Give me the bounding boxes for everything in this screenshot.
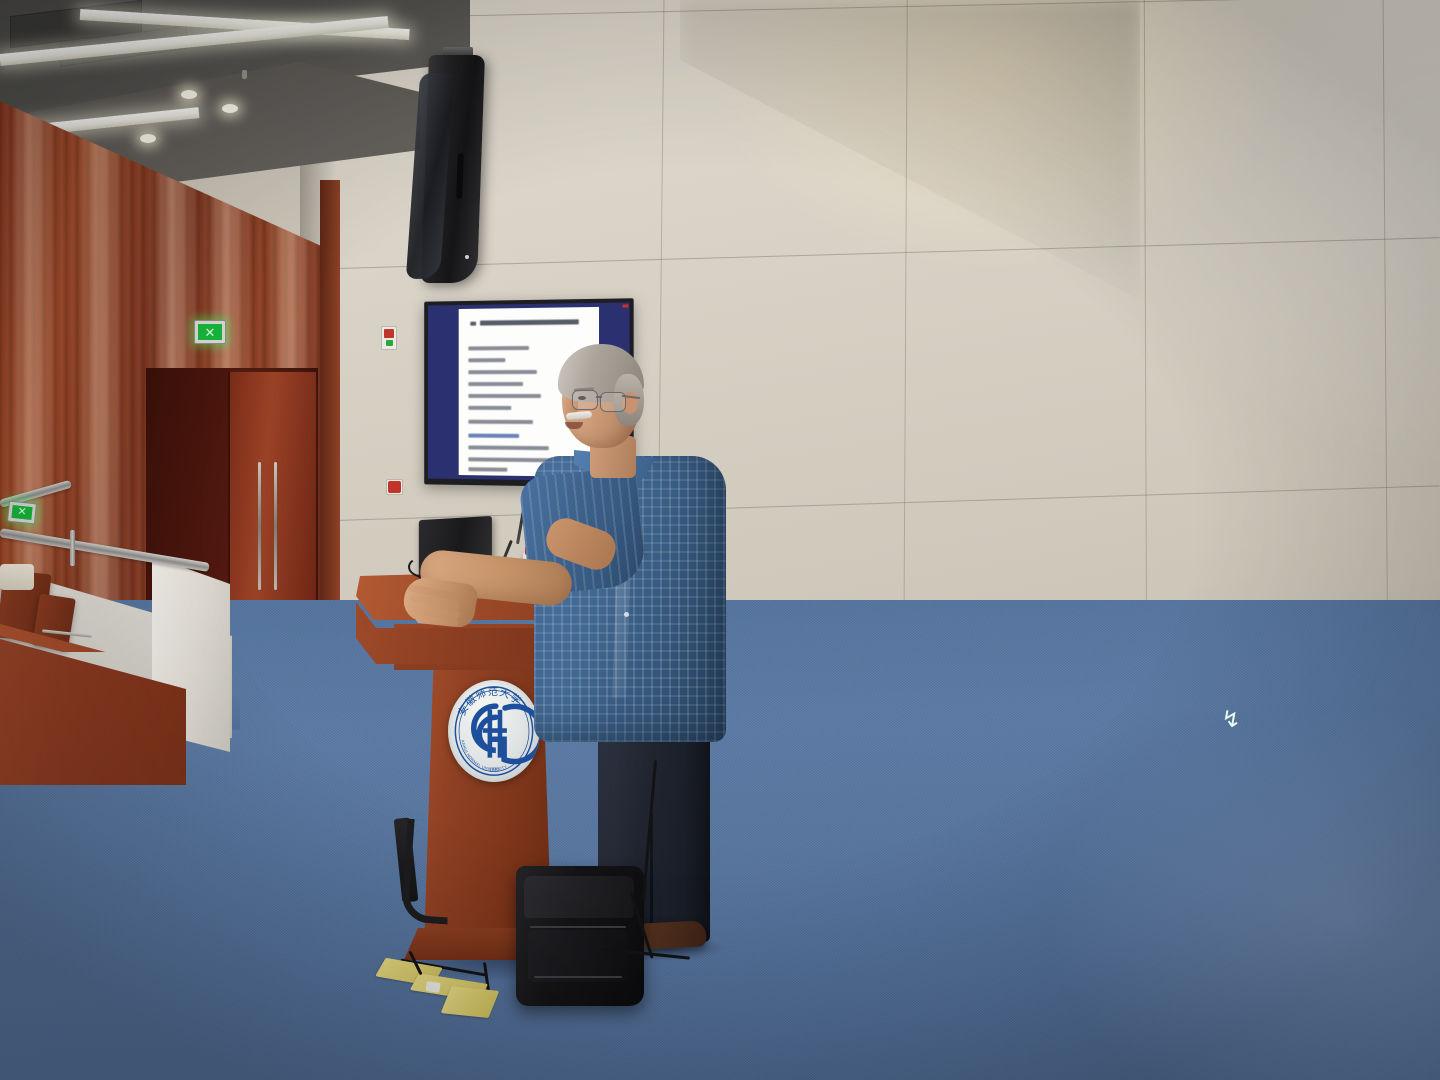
bag-strap-loop <box>400 818 454 924</box>
chair-headrest <box>0 564 34 590</box>
eyeglass-bridge <box>596 396 602 398</box>
sprinkler-head <box>242 70 247 79</box>
svg-text:1923: 1923 <box>489 767 499 772</box>
bag-zipper <box>534 976 622 978</box>
display-power-led <box>622 304 628 307</box>
presenter <box>520 344 730 944</box>
handrail-post <box>70 530 75 566</box>
bag-front-pocket <box>528 930 628 982</box>
shirt-button <box>624 612 629 617</box>
ceiling-spotlight <box>140 134 156 143</box>
wall-mounted-speaker <box>413 55 485 285</box>
exit-sign-stairwell-icon: ✕ <box>7 501 37 525</box>
ceiling-spotlight <box>222 104 238 113</box>
exit-sign-glyph: ✕ <box>198 324 222 340</box>
fire-alarm-pull-station[interactable] <box>386 479 403 495</box>
lecture-hall-photo: ✕ <box>0 0 1440 1080</box>
cable-connector <box>425 981 440 993</box>
fire-alarm-strobe <box>381 326 397 350</box>
speaker-led <box>465 255 469 259</box>
exit-sign-glyph: ✕ <box>11 505 32 520</box>
door-handle[interactable] <box>258 462 261 590</box>
door-handle[interactable] <box>274 462 277 590</box>
bag-zipper <box>530 926 626 928</box>
exit-sign-small-icon: ✕ <box>194 320 226 344</box>
bag-flap <box>524 876 634 918</box>
running-person-icon: ↯ <box>1221 708 1240 731</box>
carpet-highlight <box>950 620 1440 1080</box>
ceiling-spotlight <box>181 90 197 99</box>
eyeglass-lens <box>572 390 598 410</box>
